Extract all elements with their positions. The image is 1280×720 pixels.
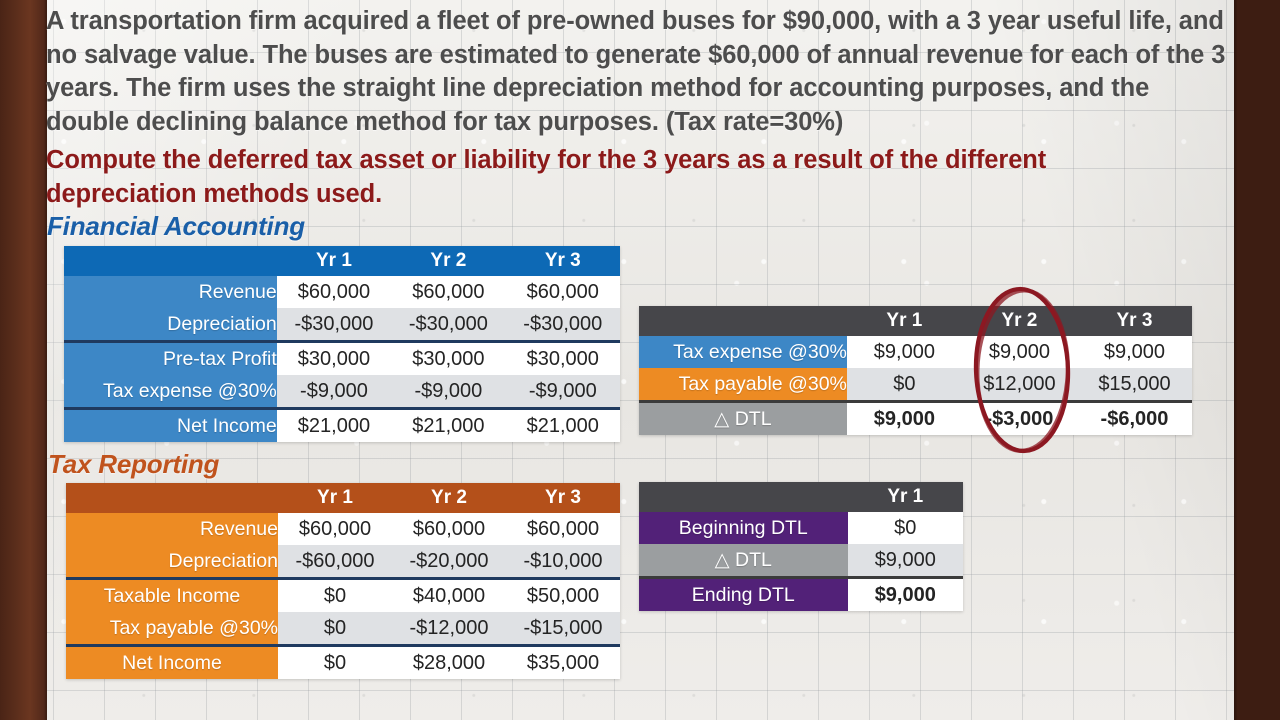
column-header-yr1: Yr 1: [847, 306, 962, 336]
table-row: △ DTL $9,000 -$3,000 -$6,000: [639, 402, 1192, 436]
row-label: Tax expense @30%: [639, 336, 847, 368]
cell-value: -$20,000: [392, 545, 506, 579]
cell-value: -$30,000: [506, 308, 620, 342]
table-header-row: Yr 1: [639, 482, 963, 512]
cell-value: $60,000: [278, 513, 392, 545]
table-header-row: Yr 1 Yr 2 Yr 3: [66, 483, 620, 513]
table-row: Net Income $21,000 $21,000 $21,000: [64, 409, 620, 443]
cell-value: $60,000: [506, 513, 620, 545]
row-label: Ending DTL: [639, 578, 848, 612]
section-caption-financial-accounting: Financial Accounting: [47, 211, 305, 242]
cell-value: $21,000: [506, 409, 620, 443]
slide-outer-frame: A transportation firm acquired a fleet o…: [0, 0, 1280, 720]
corner-cell: [64, 246, 277, 276]
column-header-yr1: Yr 1: [277, 246, 391, 276]
table-row: Depreciation -$30,000 -$30,000 -$30,000: [64, 308, 620, 342]
table-row: Net Income $0 $28,000 $35,000: [66, 646, 620, 680]
corner-cell: [639, 306, 847, 336]
cell-value: $9,000: [848, 578, 963, 612]
table-row: Revenue $60,000 $60,000 $60,000: [64, 276, 620, 308]
table-row: Ending DTL $9,000: [639, 578, 963, 612]
cell-value: $9,000: [847, 402, 962, 436]
table-row: Tax payable @30% $0 -$12,000 -$15,000: [66, 612, 620, 646]
cell-value: $9,000: [1077, 336, 1192, 368]
cell-value: $30,000: [391, 342, 505, 376]
column-header-yr2: Yr 2: [392, 483, 506, 513]
table-row: Depreciation -$60,000 -$20,000 -$10,000: [66, 545, 620, 579]
row-label: Net Income: [66, 646, 278, 680]
corner-cell: [66, 483, 278, 513]
cell-value: $9,000: [962, 336, 1077, 368]
cell-value: -$15,000: [506, 612, 620, 646]
column-header-yr2: Yr 2: [391, 246, 505, 276]
row-label: Revenue: [66, 513, 278, 545]
cell-value: $40,000: [392, 579, 506, 613]
cell-value: $0: [278, 579, 392, 613]
cell-value: -$10,000: [506, 545, 620, 579]
table-row: Tax payable @30% $0 $12,000 $15,000: [639, 368, 1192, 402]
row-label: Net Income: [64, 409, 277, 443]
slide-content: A transportation firm acquired a fleet o…: [0, 0, 1280, 720]
table-header-row: Yr 1 Yr 2 Yr 3: [639, 306, 1192, 336]
row-label: △ DTL: [639, 402, 847, 436]
table-row: Revenue $60,000 $60,000 $60,000: [66, 513, 620, 545]
row-label: Beginning DTL: [639, 512, 848, 544]
table-row: △ DTL $9,000: [639, 544, 963, 578]
cell-value: -$60,000: [278, 545, 392, 579]
cell-value: $60,000: [506, 276, 620, 308]
table-row: Tax expense @30% -$9,000 -$9,000 -$9,000: [64, 375, 620, 409]
row-label: Taxable Income: [66, 579, 278, 613]
table-row: Tax expense @30% $9,000 $9,000 $9,000: [639, 336, 1192, 368]
column-header-yr3: Yr 3: [1077, 306, 1192, 336]
table-row: Taxable Income $0 $40,000 $50,000: [66, 579, 620, 613]
cell-value: $21,000: [277, 409, 391, 443]
table-row: Pre-tax Profit $30,000 $30,000 $30,000: [64, 342, 620, 376]
cell-value: -$30,000: [277, 308, 391, 342]
cell-value: -$12,000: [392, 612, 506, 646]
cell-value: $60,000: [392, 513, 506, 545]
problem-statement-text: A transportation firm acquired a fleet o…: [46, 5, 1238, 139]
question-prompt-text: Compute the deferred tax asset or liabil…: [46, 144, 1176, 211]
table-row: Beginning DTL $0: [639, 512, 963, 544]
cell-value: -$9,000: [506, 375, 620, 409]
dtl-change-table: Yr 1 Yr 2 Yr 3 Tax expense @30% $9,000 $…: [639, 306, 1192, 435]
row-label: Revenue: [64, 276, 277, 308]
cell-value: -$30,000: [391, 308, 505, 342]
cell-value: $0: [847, 368, 962, 402]
financial-accounting-table: Yr 1 Yr 2 Yr 3 Revenue $60,000 $60,000 $…: [64, 246, 620, 442]
cell-value: $50,000: [506, 579, 620, 613]
cell-value: $9,000: [847, 336, 962, 368]
column-header-yr2: Yr 2: [962, 306, 1077, 336]
cell-value: -$9,000: [391, 375, 505, 409]
cell-value: $0: [278, 646, 392, 680]
row-label: Tax payable @30%: [66, 612, 278, 646]
tax-reporting-table: Yr 1 Yr 2 Yr 3 Revenue $60,000 $60,000 $…: [66, 483, 620, 679]
cell-value: $30,000: [506, 342, 620, 376]
cell-value: $30,000: [277, 342, 391, 376]
cell-value: $35,000: [506, 646, 620, 680]
column-header-yr3: Yr 3: [506, 246, 620, 276]
cell-value: -$3,000: [962, 402, 1077, 436]
section-caption-tax-reporting: Tax Reporting: [48, 449, 219, 480]
cell-value: $0: [278, 612, 392, 646]
row-label: △ DTL: [639, 544, 848, 578]
table-header-row: Yr 1 Yr 2 Yr 3: [64, 246, 620, 276]
cell-value: -$9,000: [277, 375, 391, 409]
cell-value: $60,000: [391, 276, 505, 308]
row-label: Tax payable @30%: [639, 368, 847, 402]
cell-value: -$6,000: [1077, 402, 1192, 436]
row-label: Depreciation: [64, 308, 277, 342]
column-header-yr1: Yr 1: [278, 483, 392, 513]
cell-value: $9,000: [848, 544, 963, 578]
column-header-yr3: Yr 3: [506, 483, 620, 513]
row-label: Depreciation: [66, 545, 278, 579]
cell-value: $15,000: [1077, 368, 1192, 402]
cell-value: $60,000: [277, 276, 391, 308]
column-header-yr1: Yr 1: [848, 482, 963, 512]
cell-value: $12,000: [962, 368, 1077, 402]
row-label: Pre-tax Profit: [64, 342, 277, 376]
cell-value: $21,000: [391, 409, 505, 443]
corner-cell: [639, 482, 848, 512]
dtl-rollforward-table: Yr 1 Beginning DTL $0 △ DTL $9,000 Endin…: [639, 482, 963, 611]
cell-value: $28,000: [392, 646, 506, 680]
row-label: Tax expense @30%: [64, 375, 277, 409]
cell-value: $0: [848, 512, 963, 544]
